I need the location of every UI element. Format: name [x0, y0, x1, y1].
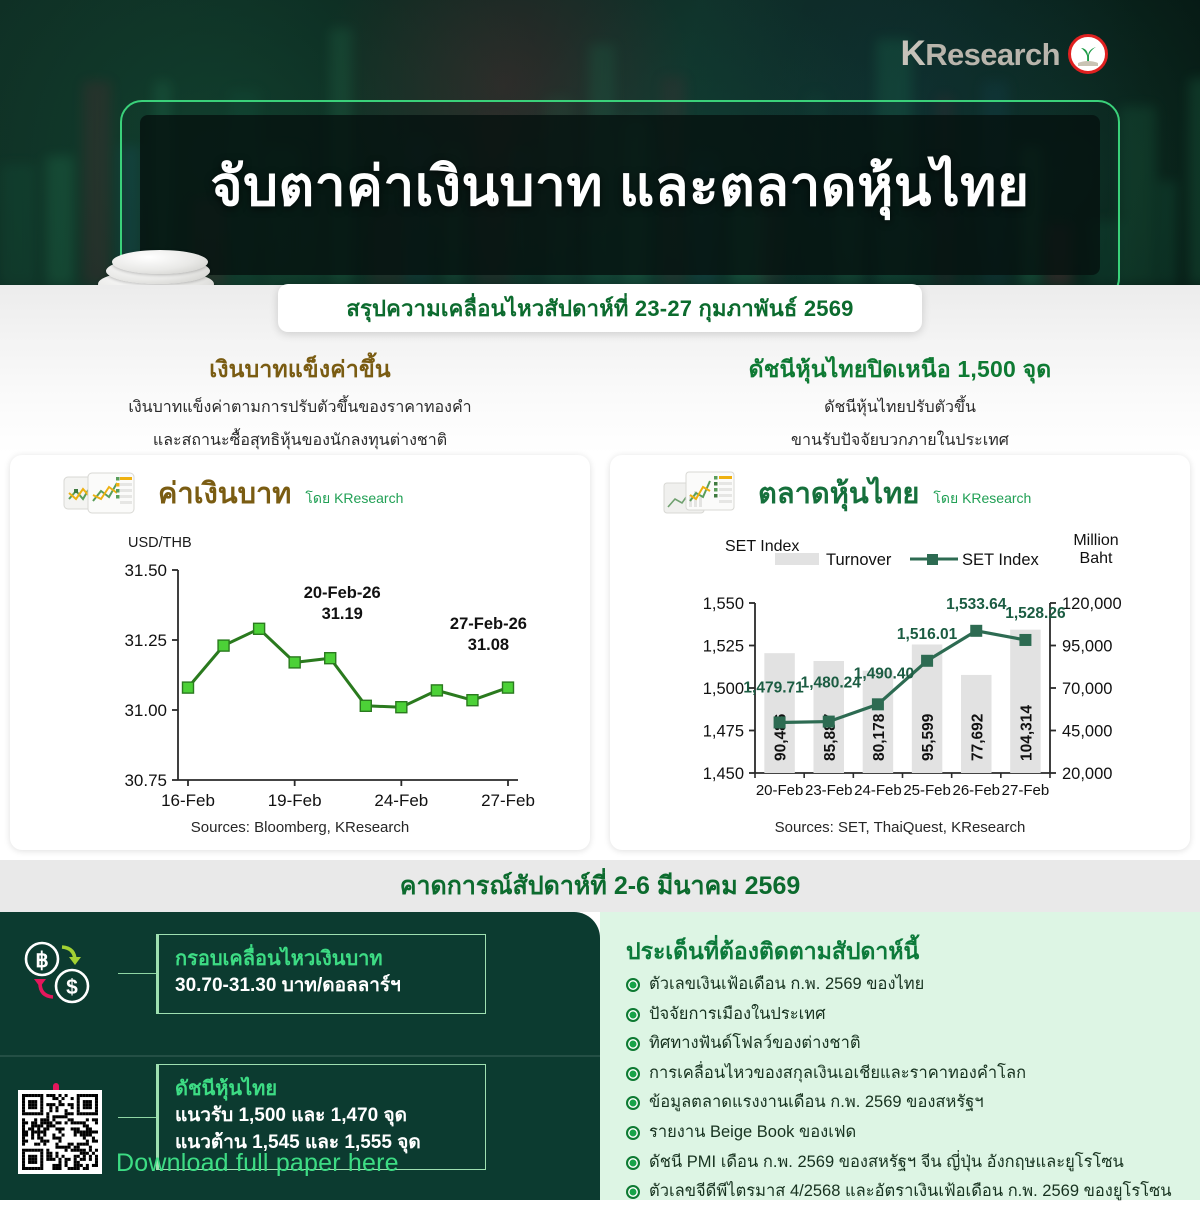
left-y-tick-label: 1,475: [703, 723, 744, 741]
list-item-label: การเคลื่อนไหวของสกุลเงินเอเชียและราคาทอง…: [649, 1063, 1026, 1084]
bullet-dot-icon: [626, 1096, 640, 1110]
list-item-label: ดัชนี PMI เดือน ก.พ. 2569 ของสหรัฐฯ จีน …: [649, 1152, 1124, 1173]
annotation-date: 27-Feb-26: [450, 615, 527, 633]
set-index-marker: [970, 625, 982, 637]
baht-card-header: ค่าเงินบาท โดย KResearch: [10, 469, 590, 517]
x-tick-label: 27-Feb: [481, 791, 535, 810]
summary-right-heading: ดัชนีหุ้นไทยปิดเหนือ 1,500 จุด: [600, 352, 1200, 388]
set-index-data-label: 1,528.26: [1005, 605, 1066, 622]
set-card-title: ตลาดหุ้นไทย: [758, 470, 919, 516]
left-axis-label: SET Index: [725, 538, 799, 555]
set-index-marker: [1019, 634, 1031, 646]
bullet-dot-icon: [626, 1156, 640, 1170]
bullet-dot-icon: [626, 1067, 640, 1081]
svg-text:$: $: [66, 976, 78, 999]
baht-card-source: Sources: Bloomberg, KResearch: [10, 819, 590, 836]
set-card-byline: โดย KResearch: [933, 476, 1031, 510]
set-index-combo-chart: SET IndexMillionBahtTurnoverSET Index1,4…: [610, 525, 1190, 825]
logo-letter-k: K: [901, 34, 926, 73]
turnover-bar-label: 95,599: [920, 713, 937, 761]
logo-word-research: Research: [925, 37, 1060, 72]
summary-row: เงินบาทแข็งค่าขึ้น เงินบาทแข็งค่าตามการป…: [0, 352, 1200, 454]
summary-right: ดัชนีหุ้นไทยปิดเหนือ 1,500 จุด ดัชนีหุ้น…: [600, 352, 1200, 454]
set-index-data-label: 1,490.40: [854, 665, 914, 682]
list-item: ดัชนี PMI เดือน ก.พ. 2569 ของสหรัฐฯ จีน …: [626, 1152, 1186, 1173]
set-index-data-label: 1,479.71: [743, 679, 804, 696]
forecast-divider: [0, 1055, 600, 1057]
data-point-marker: [289, 657, 300, 668]
right-y-tick-label: 120,000: [1062, 595, 1122, 613]
usdthb-line: [188, 629, 508, 707]
annotation-value: 31.19: [322, 605, 363, 623]
logo-wordmark: KResearch: [901, 34, 1060, 74]
set-index-marker: [774, 716, 786, 728]
x-tick-label: 16-Feb: [161, 791, 215, 810]
data-point-marker: [467, 695, 478, 706]
set-index-data-label: 1,516.01: [897, 626, 958, 643]
set-card-header: ตลาดหุ้นไทย โดย KResearch: [610, 469, 1190, 517]
watchlist-items: ตัวเลขเงินเฟ้อเดือน ก.พ. 2569 ของไทยปัจจ…: [626, 974, 1186, 1211]
summary-right-line2: ขานรับปัจจัยบวกภายในประเทศ: [600, 429, 1200, 454]
y-tick-label: 31.50: [124, 561, 167, 580]
y-tick-label: 31.00: [124, 701, 167, 720]
list-item: ทิศทางฟันด์โฟลว์ของต่างชาติ: [626, 1033, 1186, 1054]
baht-card-title: ค่าเงินบาท: [158, 470, 291, 516]
turnover-bar-label: 104,314: [1018, 705, 1035, 761]
subtitle-pill: สรุปความเคลื่อนไหวสัปดาห์ที่ 23-27 กุมภา…: [278, 284, 922, 332]
x-tick-label: 25-Feb: [903, 782, 951, 799]
right-y-tick-label: 20,000: [1062, 765, 1112, 783]
set-card-source: Sources: SET, ThaiQuest, KResearch: [610, 819, 1190, 836]
left-y-tick-label: 1,500: [703, 680, 744, 698]
set-index-data-label: 1,480.24: [801, 675, 862, 692]
bullet-dot-icon: [626, 1008, 640, 1022]
watchlist-panel: ประเด็นที่ต้องติดตามสัปดาห์นี้ ตัวเลขเงิ…: [600, 912, 1200, 1200]
list-item-label: รายงาน Beige Book ของเฟด: [649, 1122, 856, 1143]
summary-right-line1: ดัชนีหุ้นไทยปรับตัวขึ้น: [600, 396, 1200, 421]
forecast-connector-set: [118, 1117, 156, 1118]
y-tick-label: 31.25: [124, 631, 167, 650]
left-y-tick-label: 1,550: [703, 595, 744, 613]
usdthb-line-chart: 30.7531.0031.2531.5016-Feb19-Feb24-Feb27…: [10, 558, 590, 828]
turnover-bar-label: 80,178: [871, 713, 888, 761]
legend-swatch-setindex: [927, 554, 938, 565]
bullet-dot-icon: [626, 1126, 640, 1140]
kresearch-logo: KResearch: [901, 34, 1108, 74]
page-title: จับตาค่าเงินบาท และตลาดหุ้นไทย: [120, 152, 1120, 221]
data-point-marker: [431, 685, 442, 696]
right-y-tick-label: 70,000: [1062, 680, 1112, 698]
data-point-marker: [360, 700, 371, 711]
right-y-tick-label: 45,000: [1062, 723, 1112, 741]
qr-code[interactable]: [18, 1090, 102, 1174]
baht-chart-card: ค่าเงินบาท โดย KResearch USD/THB 30.7531…: [10, 455, 590, 850]
forecast-panel: ฿ $ กรอบเคลื่อนไหวเงินบาท 30.70-31.30 บา…: [0, 912, 600, 1200]
set-index-marker: [872, 698, 884, 710]
bullet-dot-icon: [626, 1185, 640, 1199]
data-point-marker: [396, 702, 407, 713]
forecast-connector-baht: [118, 973, 156, 974]
set-index-marker: [921, 655, 933, 667]
forecast-banner-text: คาดการณ์สัปดาห์ที่ 2-6 มีนาคม 2569: [400, 866, 801, 906]
x-tick-label: 26-Feb: [952, 782, 1000, 799]
x-tick-label: 20-Feb: [756, 782, 804, 799]
list-item-label: ข้อมูลตลาดแรงงานเดือน ก.พ. 2569 ของสหรัฐ…: [649, 1092, 984, 1113]
legend-swatch-turnover: [775, 553, 819, 565]
y-tick-label: 30.75: [124, 771, 167, 790]
watchlist-title: ประเด็นที่ต้องติดตามสัปดาห์นี้: [626, 934, 919, 970]
x-tick-label: 24-Feb: [854, 782, 902, 799]
forecast-banner: คาดการณ์สัปดาห์ที่ 2-6 มีนาคม 2569: [0, 860, 1200, 912]
list-item-label: ทิศทางฟันด์โฟลว์ของต่างชาติ: [649, 1033, 861, 1054]
legend-label-turnover: Turnover: [826, 551, 892, 569]
annotation-value: 31.08: [468, 636, 509, 654]
forecast-set-title: ดัชนีหุ้นไทย: [175, 1076, 469, 1103]
list-item: ปัจจัยการเมืองในประเทศ: [626, 1004, 1186, 1025]
x-tick-label: 27-Feb: [1002, 782, 1050, 799]
list-item-label: ตัวเลขเงินเฟ้อเดือน ก.พ. 2569 ของไทย: [649, 974, 924, 995]
chart-cards-row: ค่าเงินบาท โดย KResearch USD/THB 30.7531…: [0, 455, 1200, 860]
x-tick-label: 23-Feb: [805, 782, 853, 799]
right-axis-label-l1: Million: [1073, 532, 1118, 549]
summary-left-line1: เงินบาทแข็งค่าตามการปรับตัวขึ้นของราคาทอ…: [0, 396, 600, 421]
bottom-section: ฿ $ กรอบเคลื่อนไหวเงินบาท 30.70-31.30 บา…: [0, 912, 1200, 1200]
summary-left: เงินบาทแข็งค่าขึ้น เงินบาทแข็งค่าตามการป…: [0, 352, 600, 454]
currency-exchange-icon: ฿ $: [0, 935, 118, 1013]
subtitle-text: สรุปความเคลื่อนไหวสัปดาห์ที่ 23-27 กุมภา…: [346, 291, 853, 326]
data-point-marker: [503, 682, 514, 693]
baht-card-byline: โดย KResearch: [305, 476, 403, 510]
right-axis-label-l2: Baht: [1080, 550, 1113, 567]
left-y-tick-label: 1,450: [703, 765, 744, 783]
list-item: การเคลื่อนไหวของสกุลเงินเอเชียและราคาทอง…: [626, 1063, 1186, 1084]
set-index-data-label: 1,533.64: [946, 596, 1007, 613]
list-item-label: ปัจจัยการเมืองในประเทศ: [649, 1004, 826, 1025]
logo-sprout-icon: [1068, 34, 1108, 74]
list-item: ตัวเลขจีดีพีไตรมาส 4/2568 และอัตราเงินเฟ…: [626, 1181, 1186, 1202]
list-item: รายงาน Beige Book ของเฟด: [626, 1122, 1186, 1143]
data-point-marker: [325, 653, 336, 664]
forecast-baht-title: กรอบเคลื่อนไหวเงินบาท: [175, 946, 469, 973]
baht-card-wrap: ค่าเงินบาท โดย KResearch USD/THB 30.7531…: [0, 455, 600, 860]
summary-left-heading: เงินบาทแข็งค่าขึ้น: [0, 352, 600, 388]
download-link[interactable]: Download full paper here: [116, 1149, 399, 1178]
list-item: ข้อมูลตลาดแรงงานเดือน ก.พ. 2569 ของสหรัฐ…: [626, 1092, 1186, 1113]
forecast-item-baht: ฿ $ กรอบเคลื่อนไหวเงินบาท 30.70-31.30 บา…: [0, 934, 486, 1014]
svg-text:฿: ฿: [35, 949, 48, 972]
set-index-marker: [823, 716, 835, 728]
set-card-wrap: ตลาดหุ้นไทย โดย KResearch SET IndexMilli…: [600, 455, 1200, 860]
hero-banner: จับตาค่าเงินบาท และตลาดหุ้นไทย KResearch: [0, 0, 1200, 285]
forecast-set-value-line1: แนวรับ 1,500 และ 1,470 จุด: [175, 1103, 469, 1130]
data-point-marker: [254, 623, 265, 634]
turnover-bar-label: 77,692: [969, 714, 986, 761]
baht-y-axis-unit: USD/THB: [128, 535, 192, 551]
annotation-date: 20-Feb-26: [304, 584, 381, 602]
bullet-dot-icon: [626, 1037, 640, 1051]
forecast-box-baht: กรอบเคลื่อนไหวเงินบาท 30.70-31.30 บาท/ดอ…: [156, 934, 486, 1014]
data-point-marker: [218, 640, 229, 651]
coins-illustration: [82, 250, 292, 285]
right-y-tick-label: 95,000: [1062, 638, 1112, 656]
bar-line-chart-panel-icon: [662, 469, 736, 517]
line-chart-panel-icon: [62, 469, 136, 517]
legend-label-setindex: SET Index: [962, 551, 1039, 569]
x-tick-label: 19-Feb: [268, 791, 322, 810]
forecast-baht-value: 30.70-31.30 บาท/ดอลลาร์ฯ: [175, 973, 469, 1000]
left-y-tick-label: 1,525: [703, 638, 744, 656]
x-tick-label: 24-Feb: [374, 791, 428, 810]
bullet-dot-icon: [626, 978, 640, 992]
set-chart-card: ตลาดหุ้นไทย โดย KResearch SET IndexMilli…: [610, 455, 1190, 850]
data-point-marker: [183, 682, 194, 693]
summary-left-line2: และสถานะซื้อสุทธิหุ้นของนักลงทุนต่างชาติ: [0, 429, 600, 454]
list-item: ตัวเลขเงินเฟ้อเดือน ก.พ. 2569 ของไทย: [626, 974, 1186, 995]
list-item-label: ตัวเลขจีดีพีไตรมาส 4/2568 และอัตราเงินเฟ…: [649, 1181, 1172, 1202]
